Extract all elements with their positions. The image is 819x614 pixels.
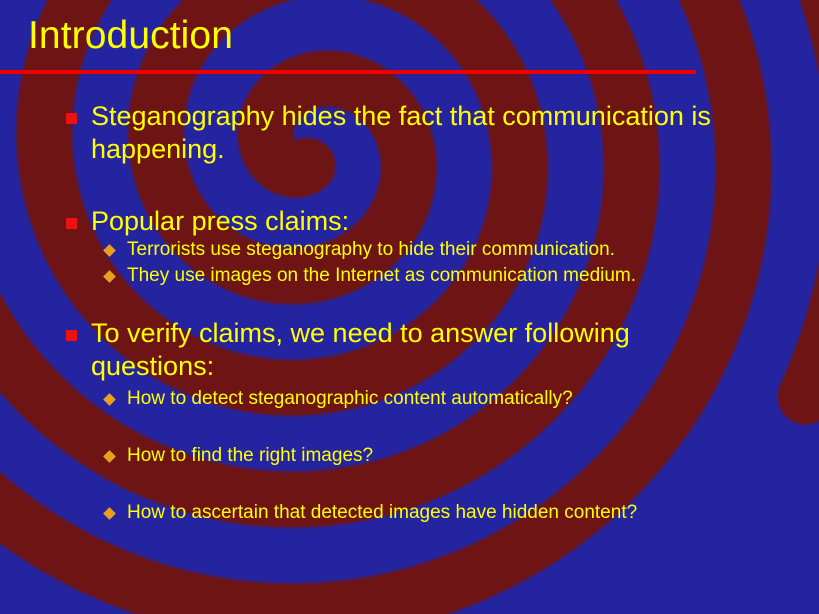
title-divider-rule (0, 70, 696, 74)
bullet-item-1: Steganography hides the fact that commun… (66, 100, 756, 166)
sub-bullet-item-5: How to ascertain that detected images ha… (105, 501, 637, 525)
bullet-item-2: Popular press claims: (66, 205, 756, 238)
presentation-slide: Introduction Steganography hides the fac… (0, 0, 819, 614)
sub-bullet-text: How to find the right images? (127, 444, 373, 468)
red-square-bullet-icon (66, 218, 77, 229)
sub-bullet-item-2: They use images on the Internet as commu… (105, 264, 636, 288)
slide-title: Introduction (28, 13, 233, 59)
red-square-bullet-icon (66, 113, 77, 124)
bullet-text: Popular press claims: (91, 205, 756, 238)
sub-bullet-text: They use images on the Internet as commu… (127, 264, 636, 288)
orange-diamond-bullet-icon (103, 450, 116, 463)
sub-bullet-text: Terrorists use steganography to hide the… (127, 238, 615, 262)
sub-bullet-text: How to ascertain that detected images ha… (127, 501, 637, 525)
sub-bullet-text: How to detect steganographic content aut… (127, 387, 573, 411)
orange-diamond-bullet-icon (103, 507, 116, 520)
sub-bullet-item-3: How to detect steganographic content aut… (105, 387, 573, 411)
red-square-bullet-icon (66, 330, 77, 341)
sub-bullet-item-4: How to find the right images? (105, 444, 373, 468)
orange-diamond-bullet-icon (103, 270, 116, 283)
sub-bullet-item-1: Terrorists use steganography to hide the… (105, 238, 615, 262)
orange-diamond-bullet-icon (103, 244, 116, 257)
bullet-item-3: To verify claims, we need to answer foll… (66, 317, 716, 383)
bullet-text: To verify claims, we need to answer foll… (91, 317, 716, 383)
slide-content: Introduction Steganography hides the fac… (0, 0, 819, 614)
orange-diamond-bullet-icon (103, 393, 116, 406)
bullet-text: Steganography hides the fact that commun… (91, 100, 756, 166)
